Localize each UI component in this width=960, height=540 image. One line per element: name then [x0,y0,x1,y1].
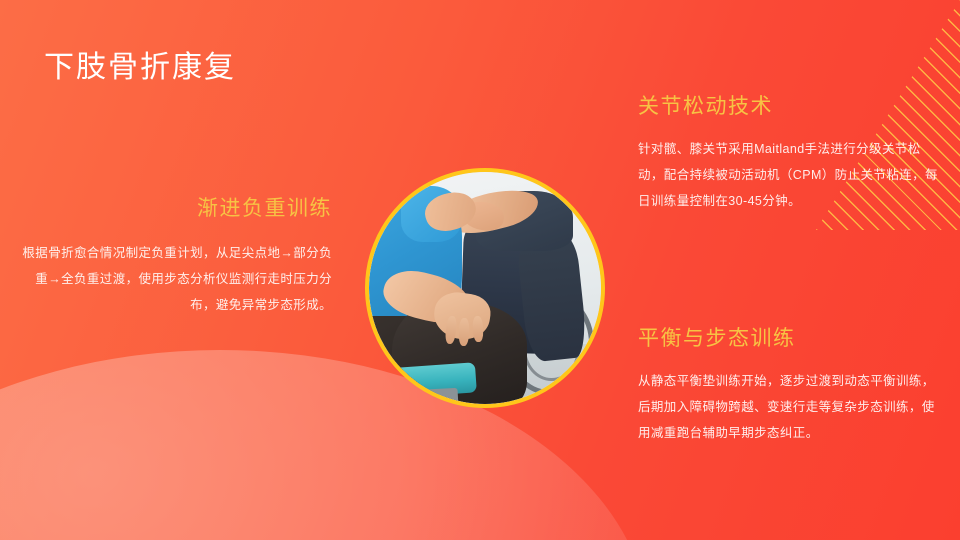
block-body-balance-gait-training: 从静态平衡垫训练开始，逐步过渡到动态平衡训练，后期加入障碍物跨越、变速行走等复杂… [638,368,938,446]
block-heading-balance-gait-training: 平衡与步态训练 [638,322,938,352]
block-heading-joint-mobilization: 关节松动技术 [638,90,938,120]
circular-photo-frame [365,168,605,408]
content-block-balance-gait-training: 平衡与步态训练 从静态平衡垫训练开始，逐步过渡到动态平衡训练，后期加入障碍物跨越… [638,322,938,446]
presentation-slide: 下肢骨折康复 渐进负重训练 根据骨折愈合情况制定负重计划，从足尖点地→部分负重→… [0,0,960,540]
slide-title: 下肢骨折康复 [44,42,236,86]
content-block-progressive-weight-bearing: 渐进负重训练 根据骨折愈合情况制定负重计划，从足尖点地→部分负重→全负重过渡，使… [20,192,332,318]
content-block-joint-mobilization: 关节松动技术 针对髋、膝关节采用Maitland手法进行分级关节松动，配合持续被… [638,90,938,214]
block-body-joint-mobilization: 针对髋、膝关节采用Maitland手法进行分级关节松动，配合持续被动活动机（CP… [638,136,938,214]
block-body-progressive-weight-bearing: 根据骨折愈合情况制定负重计划，从足尖点地→部分负重→全负重过渡，使用步态分析仪监… [20,240,332,318]
physiotherapy-photo [369,172,601,404]
block-heading-progressive-weight-bearing: 渐进负重训练 [20,192,332,222]
